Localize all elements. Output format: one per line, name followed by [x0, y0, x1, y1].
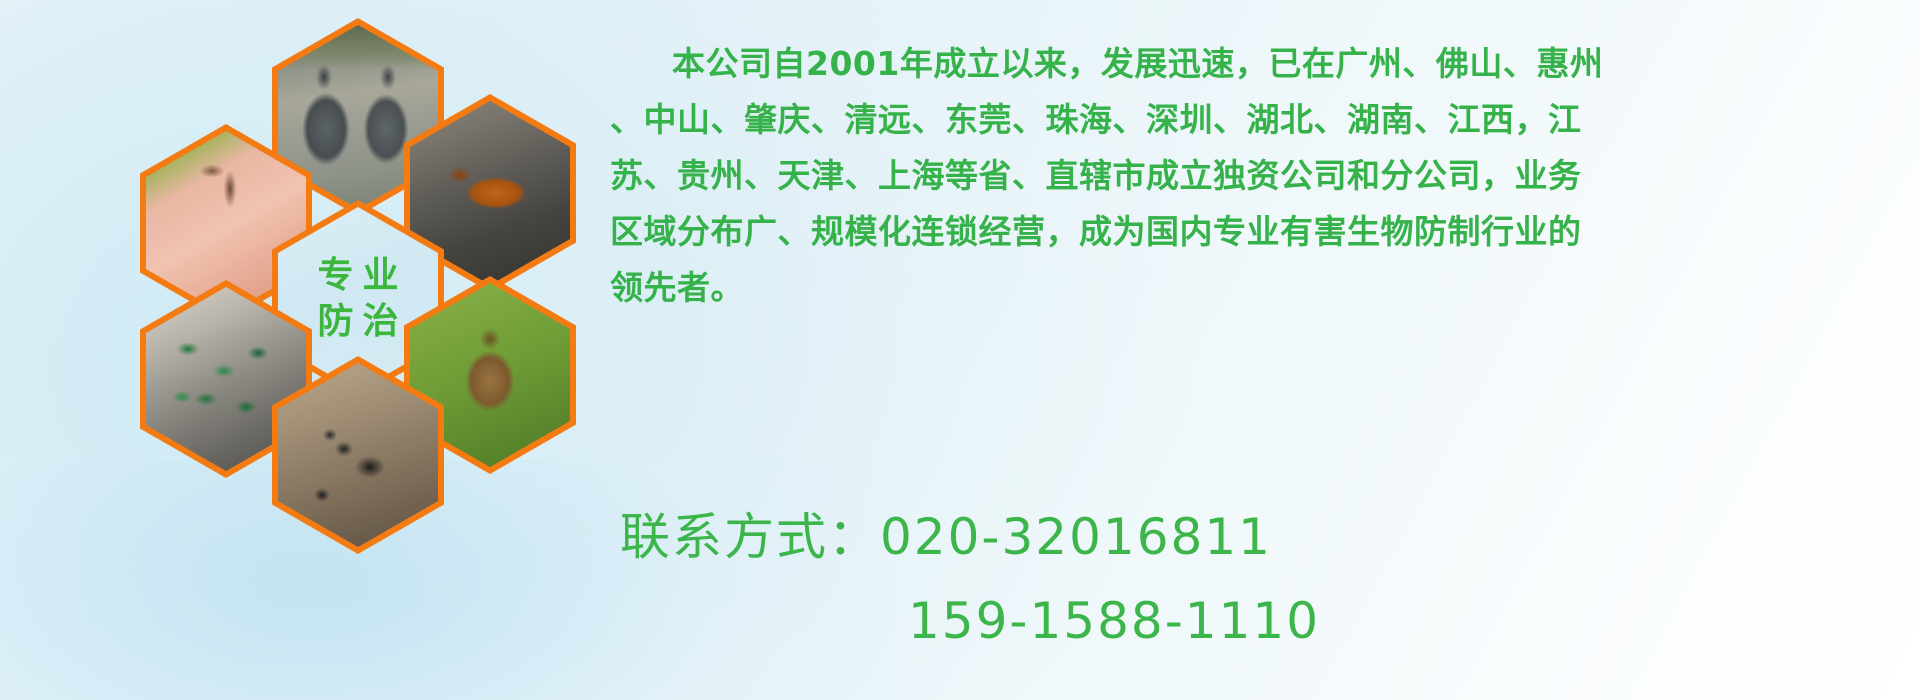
contact-phone-secondary[interactable]: 159-1588-1110 [620, 579, 1900, 663]
description-line-5: 领先者。 [610, 260, 1890, 316]
company-description: 本公司自2001年成立以来，发展迅速，已在广州、佛山、惠州 、中山、肇庆、清远、… [610, 36, 1890, 316]
description-line-3: 苏、贵州、天津、上海等省、直辖市成立独资公司和分公司，业务 [610, 148, 1890, 204]
description-line-2: 、中山、肇庆、清远、东莞、珠海、深圳、湖北、湖南、江西，江 [610, 92, 1890, 148]
center-label-line2: 防治 [308, 304, 407, 340]
description-line-1: 本公司自2001年成立以来，发展迅速，已在广州、佛山、惠州 [610, 36, 1890, 92]
ant-photo [278, 363, 438, 547]
description-line-4: 区域分布广、规模化连锁经营，成为国内专业有害生物防制行业的 [610, 204, 1890, 260]
ant-icon [278, 363, 438, 547]
center-label-line1: 专业 [308, 258, 407, 294]
contact-block: 联系方式：020-32016811 159-1588-1110 [620, 495, 1900, 663]
promo-banner: 专业 防治 本公司自2001年成立以来，发展迅速，已在广州、佛山、惠州 、中山、… [0, 0, 1920, 700]
hexagon-photo-cluster: 专业 防治 [92, 8, 592, 568]
contact-phone-primary[interactable]: 联系方式：020-32016811 [620, 495, 1900, 579]
